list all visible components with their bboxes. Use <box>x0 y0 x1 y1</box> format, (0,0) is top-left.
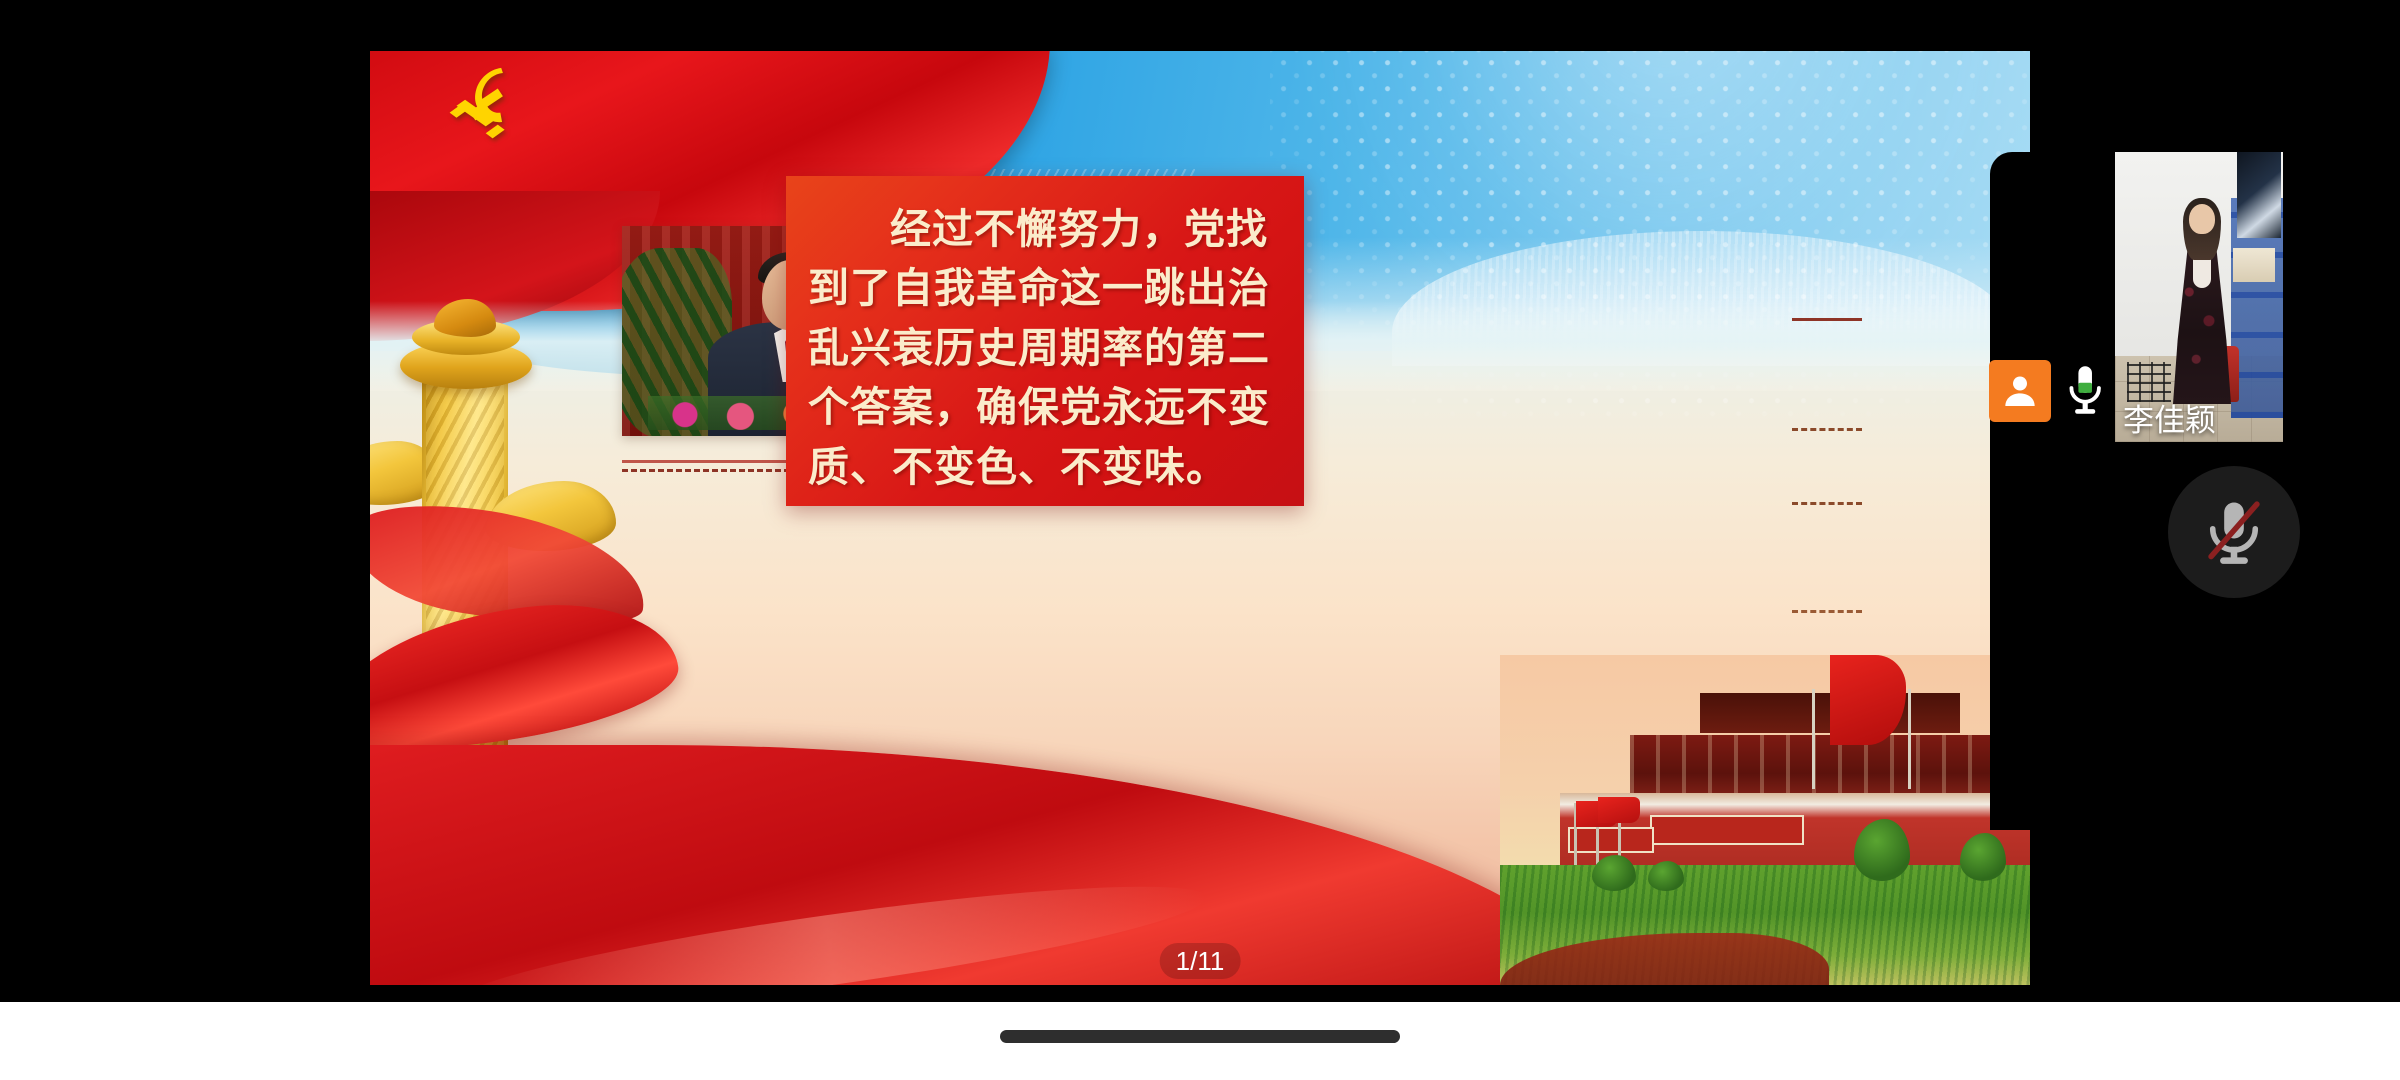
person-glyph <box>2000 371 2040 411</box>
plaza-bush <box>1648 861 1684 891</box>
column-beast-ornament <box>434 299 496 337</box>
plaza-bush <box>1592 855 1636 891</box>
gate-flag-pole <box>1812 689 1815 789</box>
gate-flag-pole <box>1908 689 1911 789</box>
screen-share-stage: 经过不懈努力，党找到了自我革命这一跳出治乱兴衰历史周期率的第二个答案，确保党永远… <box>0 0 2400 1002</box>
video-shoe-rack <box>2127 362 2171 402</box>
video-person-face <box>2189 204 2215 234</box>
divider-right-solid <box>1792 318 1862 321</box>
drape-highlight <box>449 862 1211 985</box>
quote-panel: 经过不懈努力，党找到了自我革命这一跳出治乱兴衰历史周期率的第二个答案，确保党永远… <box>786 176 1304 506</box>
divider-right-dashed <box>1792 502 1862 505</box>
plaza-flag <box>1598 797 1640 823</box>
participant-name-label: 李佳颖 <box>2123 404 2216 438</box>
mute-microphone-button[interactable] <box>2168 466 2300 598</box>
video-hanging-cloth <box>2237 152 2281 238</box>
system-bottom-bar <box>0 1002 2400 1080</box>
hammer-sickle-icon <box>436 61 532 147</box>
gate-banner-right <box>1650 815 1804 845</box>
person-icon[interactable] <box>1989 360 2051 422</box>
microphone-icon[interactable] <box>2063 363 2107 419</box>
video-storage-box <box>2233 248 2275 282</box>
red-drape <box>370 745 1630 985</box>
page-indicator: 1/11 <box>1160 943 1241 979</box>
microphone-glyph <box>2063 363 2107 419</box>
tiananmen-gate-icon <box>1500 655 2030 985</box>
divider-right-dashed <box>1792 428 1862 431</box>
participant-video-tile[interactable]: 李佳颖 <box>2115 152 2283 442</box>
plaza-bush <box>1960 833 2006 881</box>
divider-right-dashed <box>1792 610 1862 613</box>
presentation-slide[interactable]: 经过不懈努力，党找到了自我革命这一跳出治乱兴衰历史周期率的第二个答案，确保党永远… <box>370 51 2030 985</box>
app-root: 经过不懈努力，党找到了自我革命这一跳出治乱兴衰历史周期率的第二个答案，确保党永远… <box>0 0 2400 1080</box>
gate-banner-left <box>1568 827 1654 853</box>
quote-text: 经过不懈努力，党找到了自我革命这一跳出治乱兴衰历史周期率的第二个答案，确保党永远… <box>808 200 1282 497</box>
home-indicator[interactable] <box>1000 1030 1400 1043</box>
microphone-muted-icon <box>2201 496 2267 568</box>
